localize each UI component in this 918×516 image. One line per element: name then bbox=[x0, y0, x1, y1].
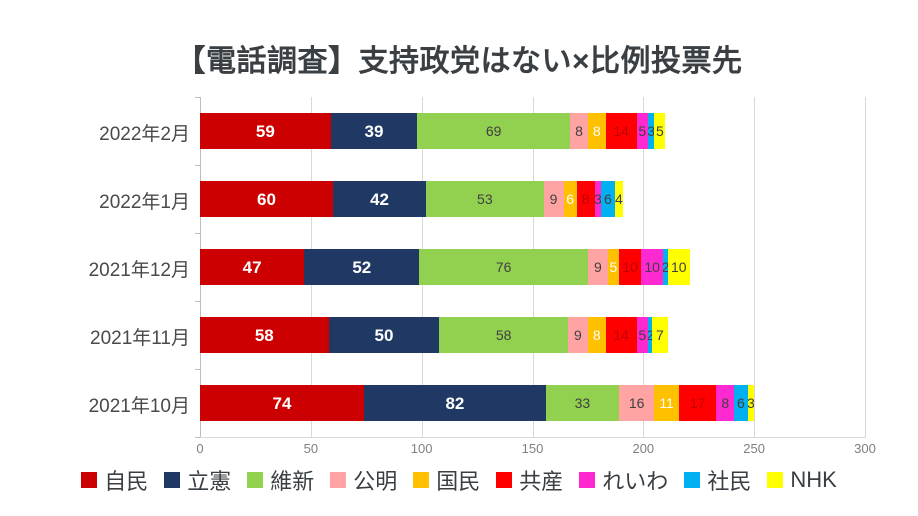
legend-swatch-icon bbox=[496, 472, 512, 488]
y-axis-category-label: 2021年11月 bbox=[40, 323, 190, 350]
bar-segment-NHK[interactable]: 7 bbox=[652, 317, 668, 353]
y-axis-tick bbox=[195, 233, 200, 234]
legend-label: 公明 bbox=[353, 464, 397, 496]
bar-segment-value: 5 bbox=[656, 124, 664, 138]
bar-segment-value: 8 bbox=[593, 328, 601, 342]
x-axis-tick-label: 100 bbox=[411, 441, 433, 456]
bar-segment-value: 82 bbox=[445, 395, 464, 412]
bar-segment-共産[interactable]: 14 bbox=[606, 113, 637, 149]
bar-segment-value: 3 bbox=[595, 192, 602, 206]
bar-segment-れいわ[interactable]: 5 bbox=[637, 317, 648, 353]
bar-segment-自民[interactable]: 47 bbox=[200, 249, 304, 285]
bar-segment-value: 11 bbox=[659, 396, 674, 410]
bar-segment-維新[interactable]: 76 bbox=[419, 249, 587, 285]
bar-segment-value: 47 bbox=[243, 259, 262, 276]
bar-segment-立憲[interactable]: 39 bbox=[331, 113, 417, 149]
bar-segment-維新[interactable]: 53 bbox=[426, 181, 543, 217]
bar-segment-value: 6 bbox=[566, 192, 574, 206]
bar-segment-共産[interactable]: 14 bbox=[606, 317, 637, 353]
bar-segment-value: 39 bbox=[365, 123, 384, 140]
y-axis-tick bbox=[195, 437, 200, 438]
bar-segment-value: 69 bbox=[486, 124, 502, 138]
bar-segment-維新[interactable]: 58 bbox=[439, 317, 568, 353]
bar-segment-value: 17 bbox=[690, 396, 706, 410]
legend-item-共産[interactable]: 共産 bbox=[496, 464, 563, 496]
bar-segment-value: 9 bbox=[574, 328, 582, 342]
bar-segment-NHK[interactable]: 10 bbox=[668, 249, 690, 285]
bar-segment-国民[interactable]: 5 bbox=[608, 249, 619, 285]
legend-swatch-icon bbox=[579, 472, 595, 488]
bar-segment-value: 7 bbox=[656, 328, 664, 342]
chart-container: 【電話調査】支持政党はない×比例投票先 59396988145356042539… bbox=[0, 0, 918, 516]
bar-segment-自民[interactable]: 74 bbox=[200, 385, 364, 421]
bar-segment-value: 74 bbox=[273, 395, 292, 412]
bar-segment-自民[interactable]: 60 bbox=[200, 181, 333, 217]
bar-segment-value: 3 bbox=[748, 396, 755, 410]
bar-row[interactable]: 5939698814535 bbox=[200, 113, 865, 149]
legend-item-立憲[interactable]: 立憲 bbox=[164, 464, 231, 496]
y-axis-tick bbox=[195, 369, 200, 370]
y-axis-category-label: 2021年10月 bbox=[40, 391, 190, 418]
y-axis-category-label: 2021年12月 bbox=[40, 255, 190, 282]
bar-segment-value: 9 bbox=[550, 192, 558, 206]
bar-segment-立憲[interactable]: 52 bbox=[304, 249, 419, 285]
bar-segment-NHK[interactable]: 3 bbox=[748, 385, 755, 421]
legend-item-国民[interactable]: 国民 bbox=[413, 464, 480, 496]
bar-segment-共産[interactable]: 8 bbox=[577, 181, 595, 217]
bar-segment-れいわ[interactable]: 5 bbox=[637, 113, 648, 149]
legend-swatch-icon bbox=[413, 472, 429, 488]
bar-segment-value: 6 bbox=[604, 192, 612, 206]
y-axis-tick bbox=[195, 301, 200, 302]
bar-segment-国民[interactable]: 8 bbox=[588, 317, 606, 353]
bar-row[interactable]: 748233161117863 bbox=[200, 385, 865, 421]
bar-segment-value: 6 bbox=[737, 396, 745, 410]
legend-label: NHK bbox=[790, 467, 836, 493]
bar-segment-value: 53 bbox=[477, 192, 493, 206]
bar-segment-value: 8 bbox=[575, 124, 583, 138]
bar-segment-維新[interactable]: 33 bbox=[546, 385, 619, 421]
bar-segment-公明[interactable]: 9 bbox=[568, 317, 588, 353]
bar-segment-value: 5 bbox=[638, 328, 646, 342]
bar-segment-value: 58 bbox=[496, 328, 512, 342]
bar-segment-維新[interactable]: 69 bbox=[417, 113, 570, 149]
bar-segment-value: 76 bbox=[496, 260, 512, 274]
y-axis-category-label: 2022年2月 bbox=[40, 119, 190, 146]
legend-swatch-icon bbox=[684, 472, 700, 488]
bar-segment-れいわ[interactable]: 10 bbox=[641, 249, 663, 285]
gridline bbox=[865, 97, 866, 437]
bar-segment-value: 52 bbox=[352, 259, 371, 276]
bar-segment-value: 16 bbox=[629, 396, 645, 410]
bar-segment-社民[interactable]: 6 bbox=[734, 385, 747, 421]
legend-item-れいわ[interactable]: れいわ bbox=[579, 464, 668, 496]
bar-segment-value: 4 bbox=[615, 192, 623, 206]
legend-item-社民[interactable]: 社民 bbox=[684, 464, 751, 496]
bar-segment-value: 3 bbox=[648, 124, 655, 138]
y-axis-category-label: 2022年1月 bbox=[40, 187, 190, 214]
bar-segment-社民[interactable]: 3 bbox=[648, 113, 655, 149]
x-axis-tick-label: 300 bbox=[854, 441, 876, 456]
bar-segment-立憲[interactable]: 82 bbox=[364, 385, 546, 421]
bar-segment-value: 14 bbox=[613, 328, 629, 342]
legend-swatch-icon bbox=[330, 472, 346, 488]
bar-segment-れいわ[interactable]: 3 bbox=[595, 181, 602, 217]
bar-segment-value: 5 bbox=[638, 124, 646, 138]
bar-segment-立憲[interactable]: 50 bbox=[329, 317, 440, 353]
bar-segment-社民[interactable]: 6 bbox=[601, 181, 614, 217]
bar-row[interactable]: 475276951010210 bbox=[200, 249, 865, 285]
bar-segment-value: 8 bbox=[593, 124, 601, 138]
legend-item-NHK[interactable]: NHK bbox=[767, 467, 836, 493]
bar-segment-公明[interactable]: 9 bbox=[588, 249, 608, 285]
bar-segment-value: 50 bbox=[375, 327, 394, 344]
bar-segment-国民[interactable]: 8 bbox=[588, 113, 606, 149]
legend-label: 立憲 bbox=[187, 464, 231, 496]
bar-segment-value: 9 bbox=[594, 260, 602, 274]
legend-label: 共産 bbox=[519, 464, 563, 496]
x-axis-line bbox=[200, 437, 866, 438]
bar-segment-NHK[interactable]: 4 bbox=[615, 181, 624, 217]
bar-segment-れいわ[interactable]: 8 bbox=[716, 385, 734, 421]
legend-swatch-icon bbox=[81, 472, 97, 488]
plot-area: 5939698814535604253968364475276951010210… bbox=[200, 97, 865, 437]
x-axis-tick-label: 250 bbox=[743, 441, 765, 456]
bar-segment-立憲[interactable]: 42 bbox=[333, 181, 426, 217]
bar-segment-自民[interactable]: 59 bbox=[200, 113, 331, 149]
legend-label: 国民 bbox=[436, 464, 480, 496]
bar-segment-共産[interactable]: 10 bbox=[619, 249, 641, 285]
bar-segment-value: 60 bbox=[257, 191, 276, 208]
legend-item-維新[interactable]: 維新 bbox=[247, 464, 314, 496]
bar-segment-value: 10 bbox=[644, 260, 660, 274]
bar-segment-国民[interactable]: 6 bbox=[564, 181, 577, 217]
bar-segment-value: 5 bbox=[610, 260, 618, 274]
x-axis-tick-label: 150 bbox=[522, 441, 544, 456]
bar-segment-value: 10 bbox=[622, 260, 638, 274]
y-axis-category-labels: 2022年2月2022年1月2021年12月2021年11月2021年10月 bbox=[40, 97, 190, 437]
x-axis-tick-label: 200 bbox=[632, 441, 654, 456]
bar-segment-value: 58 bbox=[255, 327, 274, 344]
legend-swatch-icon bbox=[164, 472, 180, 488]
y-axis-tick bbox=[195, 165, 200, 166]
bar-segment-公明[interactable]: 8 bbox=[570, 113, 588, 149]
bar-row[interactable]: 5850589814527 bbox=[200, 317, 865, 353]
legend-label: 維新 bbox=[270, 464, 314, 496]
bar-segment-value: 10 bbox=[671, 260, 687, 274]
bar-segment-国民[interactable]: 11 bbox=[654, 385, 678, 421]
chart-legend: 自民立憲維新公明国民共産れいわ社民NHK bbox=[0, 458, 918, 502]
legend-swatch-icon bbox=[767, 472, 783, 488]
x-axis-tick-label: 50 bbox=[304, 441, 318, 456]
bar-segment-value: 8 bbox=[582, 192, 590, 206]
y-axis-tick bbox=[195, 97, 200, 98]
bar-segment-value: 42 bbox=[370, 191, 389, 208]
bar-segment-自民[interactable]: 58 bbox=[200, 317, 329, 353]
chart-title: 【電話調査】支持政党はない×比例投票先 bbox=[0, 36, 918, 80]
bar-segment-value: 59 bbox=[256, 123, 275, 140]
legend-label: 社民 bbox=[707, 464, 751, 496]
bar-segment-公明[interactable]: 16 bbox=[619, 385, 654, 421]
bar-segment-value: 33 bbox=[575, 396, 591, 410]
bar-segment-公明[interactable]: 9 bbox=[544, 181, 564, 217]
legend-item-公明[interactable]: 公明 bbox=[330, 464, 397, 496]
bar-segment-共産[interactable]: 17 bbox=[679, 385, 717, 421]
bar-segment-value: 14 bbox=[613, 124, 629, 138]
legend-item-自民[interactable]: 自民 bbox=[81, 464, 148, 496]
x-axis-tick-label: 0 bbox=[196, 441, 203, 456]
bar-row[interactable]: 604253968364 bbox=[200, 181, 865, 217]
legend-swatch-icon bbox=[247, 472, 263, 488]
bar-segment-NHK[interactable]: 5 bbox=[654, 113, 665, 149]
legend-label: れいわ bbox=[602, 464, 668, 496]
bar-segment-value: 8 bbox=[721, 396, 729, 410]
legend-label: 自民 bbox=[104, 464, 148, 496]
